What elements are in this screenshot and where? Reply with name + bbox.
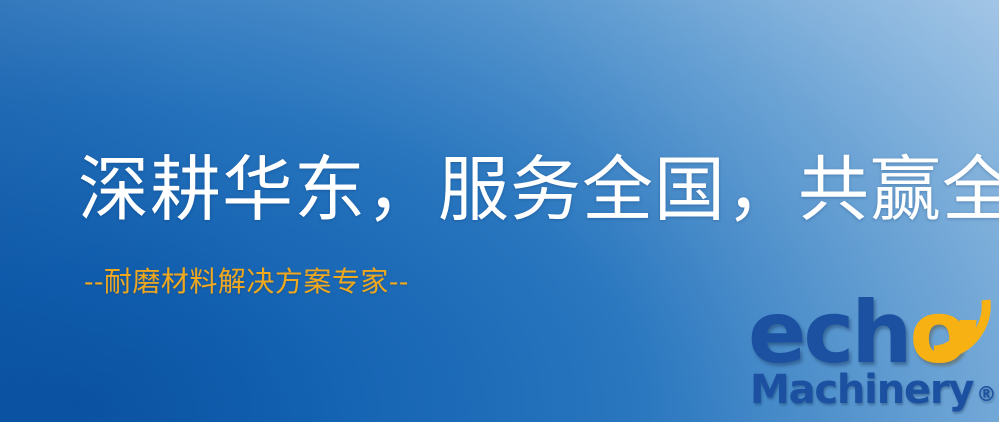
registered-trademark-icon: ® (976, 382, 996, 406)
banner-subtitle: --耐磨材料解决方案专家-- (84, 262, 409, 302)
logo-company-name-text: Machinery (750, 367, 973, 413)
echo-signal-waves-icon (928, 294, 999, 358)
logo-company-name: Machinery® (750, 368, 996, 416)
company-logo: echo Machinery® (742, 296, 999, 422)
hero-banner: 深耕华东，服务全国，共赢全球 --耐磨材料解决方案专家-- echo Machi… (0, 0, 999, 422)
banner-headline: 深耕华东，服务全国，共赢全球 (78, 147, 958, 233)
